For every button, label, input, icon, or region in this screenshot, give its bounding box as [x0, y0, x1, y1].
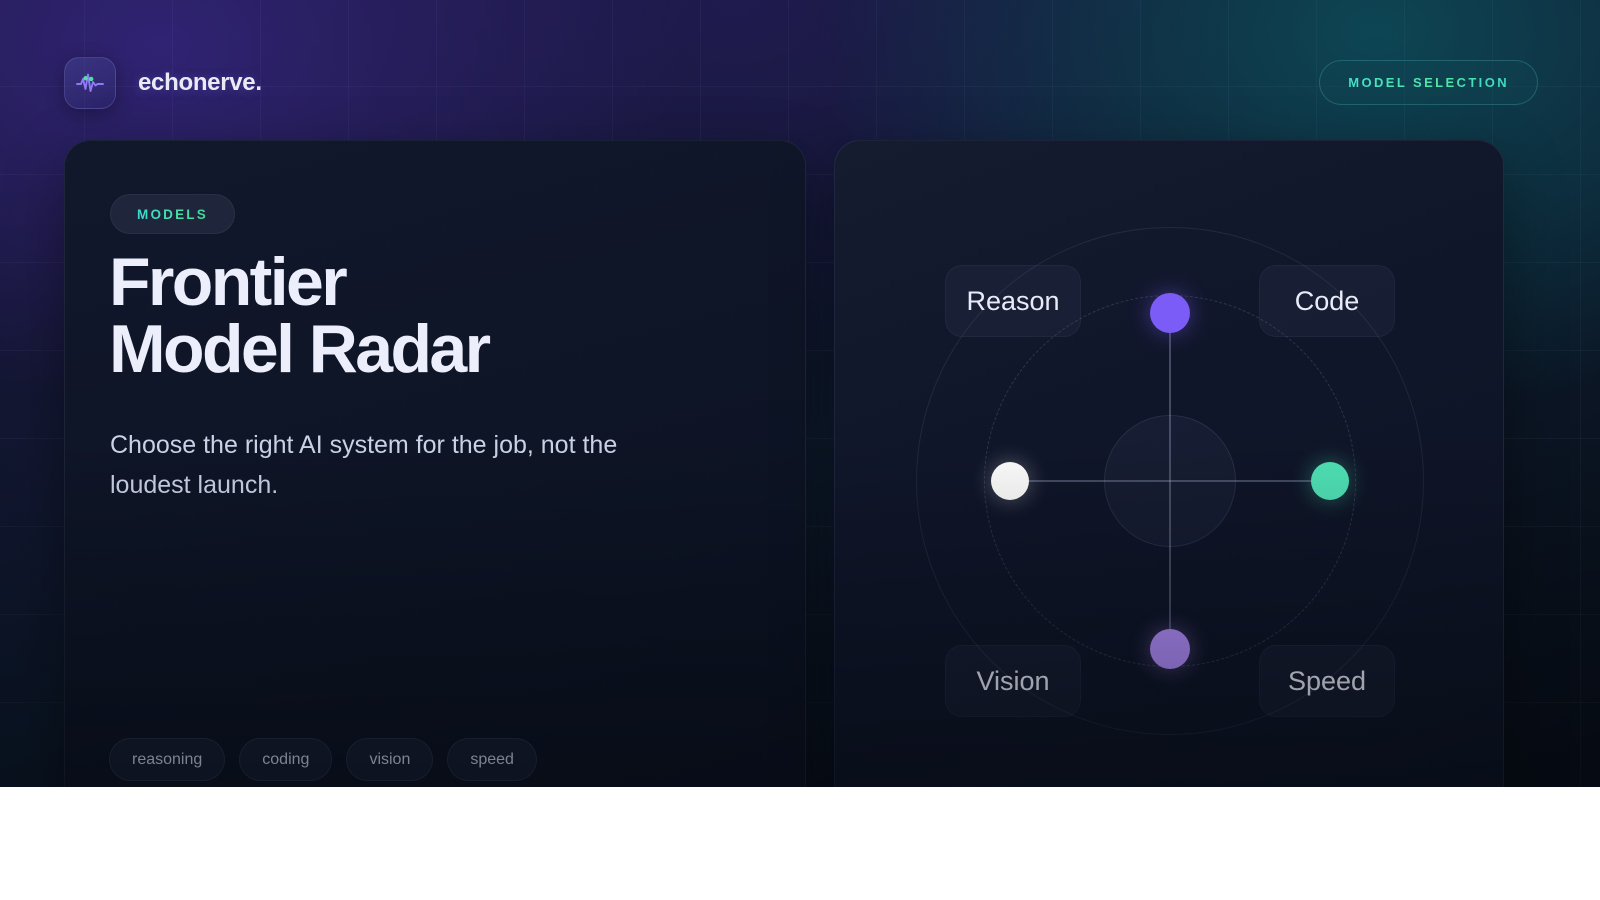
tag-vision[interactable]: vision: [346, 738, 433, 781]
page-viewport: echonerve. MODEL SELECTION MODELS Fronti…: [0, 0, 1600, 787]
capability-tag-list: reasoning coding vision speed: [109, 738, 537, 781]
page-title-line1: Frontier: [109, 244, 345, 320]
models-badge: MODELS: [110, 194, 235, 234]
radar-node-code[interactable]: [1311, 462, 1349, 500]
radar-label-vision[interactable]: Vision: [945, 645, 1081, 717]
model-selection-button[interactable]: MODEL SELECTION: [1319, 60, 1538, 105]
radar-label-reason[interactable]: Reason: [945, 265, 1081, 337]
radar-label-code[interactable]: Code: [1259, 265, 1395, 337]
page-title-line2: Model Radar: [109, 316, 749, 383]
radar-node-vision[interactable]: [991, 462, 1029, 500]
brand-logo[interactable]: echonerve.: [64, 57, 262, 109]
tag-reasoning[interactable]: reasoning: [109, 738, 225, 781]
waveform-pulse-icon: [76, 71, 104, 95]
logo-tile: [64, 57, 116, 109]
radar-node-speed[interactable]: [1150, 629, 1190, 669]
radar-node-reason[interactable]: [1150, 293, 1190, 333]
models-intro-card: MODELS Frontier Model Radar Choose the r…: [64, 140, 806, 787]
radar-center-hub: [1104, 415, 1236, 547]
page-title: Frontier Model Radar: [109, 249, 749, 384]
radar-card: Reason Code Vision Speed: [834, 140, 1504, 787]
radar-label-speed[interactable]: Speed: [1259, 645, 1395, 717]
tag-speed[interactable]: speed: [447, 738, 537, 781]
brand-name: echonerve.: [138, 69, 262, 97]
page-header: echonerve. MODEL SELECTION: [0, 0, 1600, 140]
tag-coding[interactable]: coding: [239, 738, 332, 781]
radar-visualization: Reason Code Vision Speed: [835, 141, 1504, 787]
model-selection-label: MODEL SELECTION: [1348, 75, 1509, 90]
page-subtitle: Choose the right AI system for the job, …: [110, 426, 700, 505]
models-badge-label: MODELS: [137, 207, 208, 222]
